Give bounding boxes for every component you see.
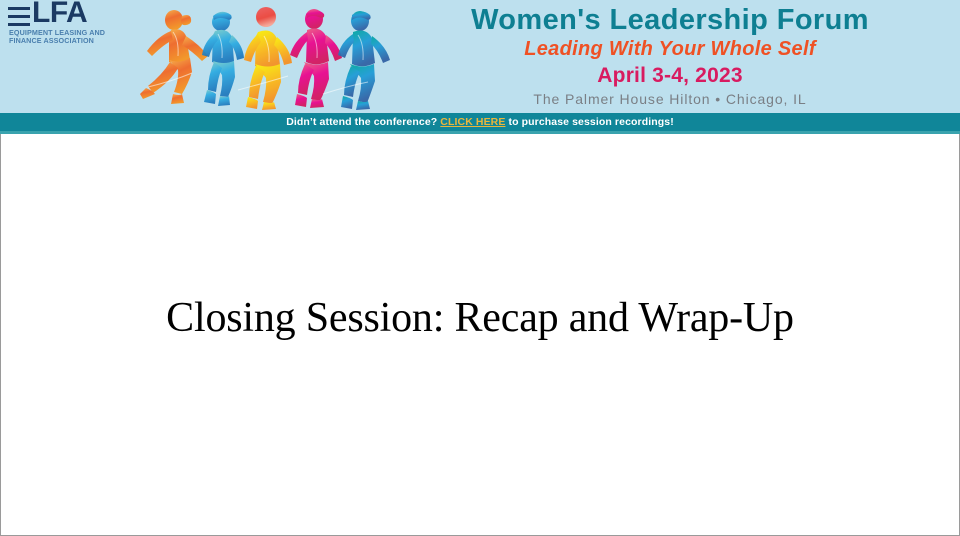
conference-header-banner: LFA EQUIPMENT LEASING AND FINANCE ASSOCI… [0,0,960,113]
promo-banner-text: Didn’t attend the conference? CLICK HERE… [286,116,674,128]
promo-text-before: Didn’t attend the conference? [286,116,440,128]
event-tagline: Leading With Your Whole Self [390,37,950,62]
elfa-e-bar-middle [8,15,30,18]
slide-content-area: Closing Session: Recap and Wrap-Up [0,134,960,536]
elfa-e-bar-bottom [8,23,30,26]
presentation-slide: LFA EQUIPMENT LEASING AND FINANCE ASSOCI… [0,0,960,536]
elfa-logo-tagline: EQUIPMENT LEASING AND FINANCE ASSOCIATIO… [9,29,129,46]
figure-orange [140,10,208,104]
elfa-logo[interactable]: LFA EQUIPMENT LEASING AND FINANCE ASSOCI… [8,4,126,48]
event-venue: The Palmer House Hilton • Chicago, IL [390,90,950,108]
elfa-tagline-line-2: FINANCE ASSOCIATION [9,36,94,45]
promo-banner: Didn’t attend the conference? CLICK HERE… [0,113,960,131]
elfa-e-bar-top [8,7,30,10]
walking-women-silhouettes-image [118,2,398,110]
elfa-logo-text: LFA [32,0,87,28]
figure-teal-a [202,12,244,106]
event-date: April 3-4, 2023 [390,63,950,88]
figure-teal-b [338,11,390,110]
figure-yellow [244,7,292,110]
figure-pink [290,9,342,108]
purchase-recordings-link[interactable]: CLICK HERE [440,116,505,128]
event-name: Women's Leadership Forum [390,4,950,36]
slide-title: Closing Session: Recap and Wrap-Up [1,294,959,342]
promo-text-after: to purchase session recordings! [505,116,673,128]
elfa-wordmark: LFA [8,4,120,30]
event-title-block: Women's Leadership Forum Leading With Yo… [390,4,950,108]
